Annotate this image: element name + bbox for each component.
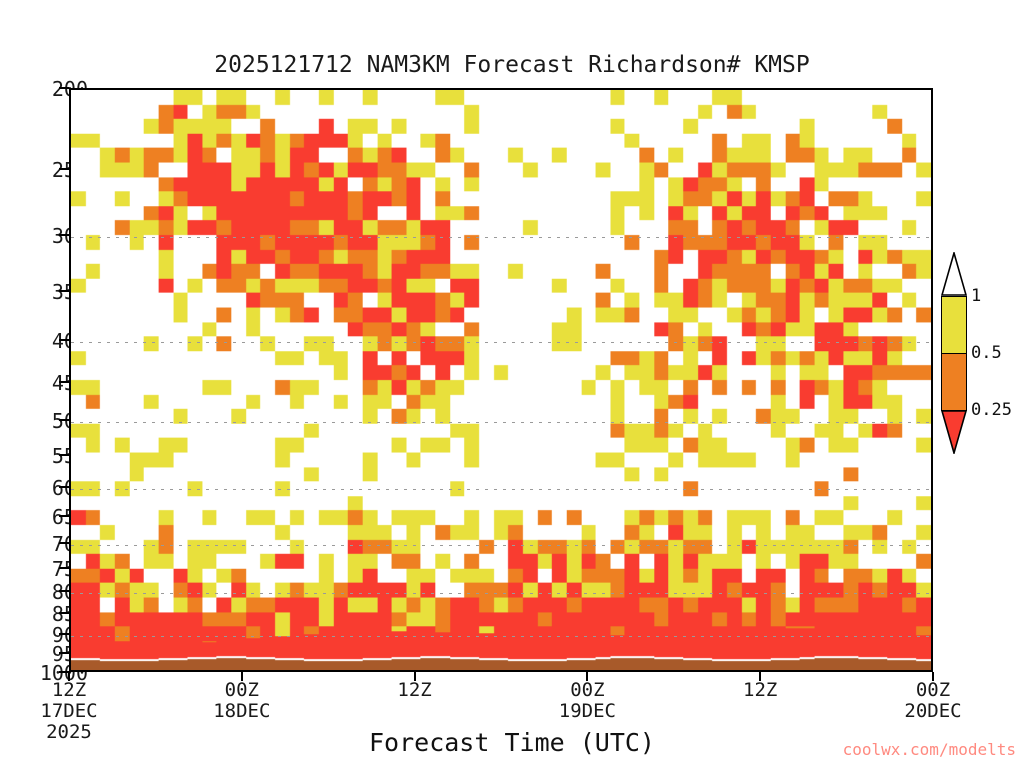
y-axis-tick-mark [59,633,69,635]
y-axis-tick-mark [59,419,69,421]
x-axis-tick-label-line: 18DEC [142,701,342,722]
colorbar-lower-arrow [941,410,967,454]
y-axis-tick-mark [59,168,69,170]
x-axis-tick-label-line: 00Z [833,680,1024,701]
plot-area [69,88,933,672]
y-axis-tick-mark [59,454,69,456]
colorbar-tick-label: 1 [971,286,981,306]
y-axis-tick-mark [59,612,69,614]
x-axis-tick-label: 12Z [660,680,860,701]
x-axis-tick-label-line: 00Z [142,680,342,701]
y-axis-tick-mark [59,339,69,341]
x-axis-tick-label: 12Z [315,680,515,701]
colorbar-band-yellow [941,296,967,353]
y-axis-tick-mark [59,234,69,236]
colorbar-tick-label: 0.5 [971,343,1002,363]
colorbar-separator [941,296,967,297]
y-axis-tick-mark [59,652,69,654]
y-axis-tick-mark [59,87,69,89]
colorbar-upper-arrow-outline [941,252,967,296]
chart-canvas: 2025121712 NAM3KM Forecast Richardson# K… [0,0,1024,768]
credit-watermark: coolwx.com/modelts [843,740,1016,759]
y-axis-tick-mark [59,590,69,592]
page-title: 2025121712 NAM3KM Forecast Richardson# K… [0,52,1024,78]
x-axis-tick-label: 00Z18DEC [142,680,342,722]
y-axis-tick-mark [59,486,69,488]
x-axis-tick-label: 00Z19DEC [487,680,687,722]
y-axis-tick-mark [59,290,69,292]
colorbar-legend: 10.50.25 [941,296,967,496]
x-axis-tick-label-line: 20DEC [833,701,1024,722]
x-axis-tick-label-line: 12Z [660,680,860,701]
y-axis-tick-mark [59,381,69,383]
y-axis-tick-mark [59,515,69,517]
x-axis-tick-label-line: 19DEC [487,701,687,722]
colorbar-separator [941,353,967,354]
x-axis-tick-label-line: 12Z [315,680,515,701]
y-axis-tick-mark [59,542,69,544]
x-axis-tick-label: 00Z20DEC [833,680,1024,722]
heatmap-canvas [71,90,931,670]
colorbar-tick-label: 0.25 [971,400,1012,420]
y-axis-tick-mark [59,567,69,569]
x-axis-tick-label-line: 00Z [487,680,687,701]
colorbar-band-orange [941,353,967,410]
colorbar-separator [941,410,967,411]
